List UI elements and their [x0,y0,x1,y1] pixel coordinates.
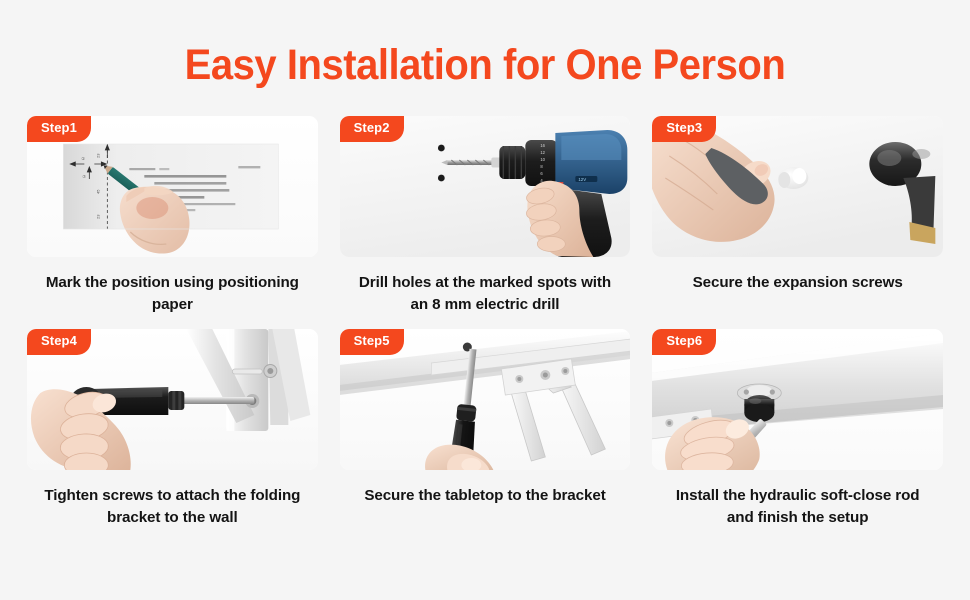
step-caption-4-line2: bracket to the wall [44,507,300,529]
step-badge-6: Step6 [652,329,716,355]
step-card-2: 1612 108 64 12V [340,116,631,315]
step-caption-3-line1: Secure the expansion screws [693,274,903,291]
step-card-6: Step6 Install the hydraulic soft-close r… [652,329,943,528]
step-caption-5: Secure the tabletop to the bracket [364,485,605,507]
svg-text:12: 12 [540,150,545,155]
step-caption-2-line2: an 8 mm electric drill [359,294,611,316]
step-caption-6: Install the hydraulic soft-close rod and… [676,485,920,528]
step-badge-3: Step3 [652,116,716,142]
installation-guide-page: Easy Installation for One Person [0,0,970,600]
step-caption-1: Mark the position using positioning pape… [27,272,318,315]
step-image-card-6: Step6 [652,329,943,470]
step-caption-3: Secure the expansion screws [693,272,903,294]
step-caption-4-line1: Tighten screws to attach the folding [44,487,300,504]
page-title: Easy Installation for One Person [34,0,936,88]
step-caption-6-line1: Install the hydraulic soft-close rod [676,487,920,504]
step-caption-4: Tighten screws to attach the folding bra… [44,485,300,528]
step-caption-2-line1: Drill holes at the marked spots with [359,274,611,291]
svg-text:23: 23 [95,153,100,158]
step-caption-5-line1: Secure the tabletop to the bracket [364,487,605,504]
step-caption-6-line2: and finish the setup [676,507,920,529]
step-image-card-2: 1612 108 64 12V [340,116,631,257]
step-image-card-3: Step3 [652,116,943,257]
step-image-card-5: Step5 [340,329,631,470]
step-badge-1: Step1 [27,116,91,142]
step-caption-1-line1: Mark the position using positioning pape… [46,274,299,313]
step-card-1: 23 45 23 ① ⑦ [27,116,318,315]
svg-text:16: 16 [540,143,545,148]
svg-text:①: ① [81,156,85,161]
svg-text:23: 23 [95,214,100,219]
step-card-3: Step3 Secure the expansion screws [652,116,943,315]
svg-text:45: 45 [95,189,100,194]
step-card-4: Step4 Tighten screws to attach the foldi… [27,329,318,528]
step-image-card-1: 23 45 23 ① ⑦ [27,116,318,257]
step-badge-2: Step2 [340,116,404,142]
steps-grid: 23 45 23 ① ⑦ [0,116,970,528]
step-caption-2: Drill holes at the marked spots with an … [359,272,611,315]
svg-text:12V: 12V [578,177,586,182]
step-badge-5: Step5 [340,329,404,355]
svg-text:⑦: ⑦ [82,174,86,179]
svg-text:10: 10 [540,157,545,162]
step-card-5: Step5 Secure the tabletop to the bracket [340,329,631,528]
step-badge-4: Step4 [27,329,91,355]
step-image-card-4: Step4 [27,329,318,470]
